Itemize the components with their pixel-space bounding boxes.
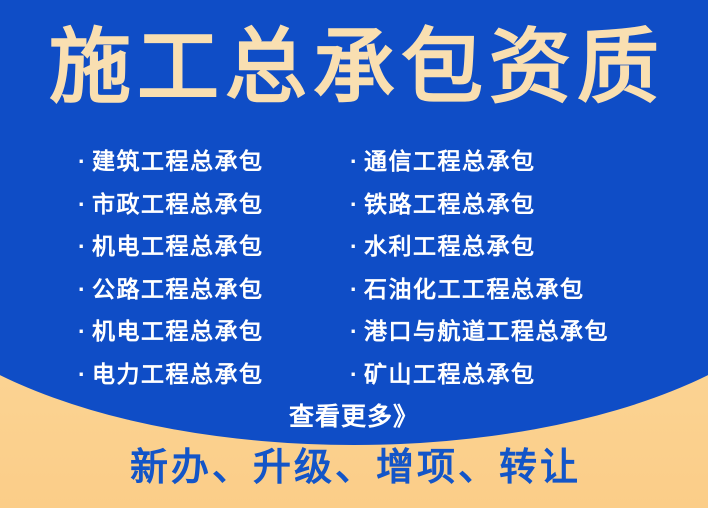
list-item[interactable]: · 机电工程总承包 [78, 310, 340, 353]
list-item-label: 矿山工程总承包 [364, 353, 536, 396]
services-slogan: 新办、升级、增项、转让 [0, 445, 708, 491]
qualification-column-left: · 建筑工程总承包 · 市政工程总承包 · 机电工程总承包 · 公路工程总承包 … [78, 140, 340, 395]
bullet-icon: · [78, 140, 92, 183]
list-item-label: 机电工程总承包 [92, 310, 264, 353]
bullet-icon: · [78, 353, 92, 396]
list-item-label: 机电工程总承包 [92, 225, 264, 268]
list-item[interactable]: · 公路工程总承包 [78, 268, 340, 311]
list-item[interactable]: · 市政工程总承包 [78, 183, 340, 226]
list-item-label: 水利工程总承包 [364, 225, 536, 268]
bullet-icon: · [350, 353, 364, 396]
bullet-icon: · [350, 183, 364, 226]
list-item[interactable]: · 水利工程总承包 [350, 225, 680, 268]
bullet-icon: · [78, 225, 92, 268]
bullet-icon: · [78, 310, 92, 353]
list-item-label: 建筑工程总承包 [92, 140, 264, 183]
list-item-label: 石油化工工程总承包 [364, 268, 585, 311]
list-item-label: 电力工程总承包 [92, 353, 264, 396]
list-item[interactable]: · 铁路工程总承包 [350, 183, 680, 226]
list-item-label: 铁路工程总承包 [364, 183, 536, 226]
bullet-icon: · [78, 183, 92, 226]
list-item[interactable]: · 建筑工程总承包 [78, 140, 340, 183]
bullet-icon: · [78, 268, 92, 311]
list-item-label: 公路工程总承包 [92, 268, 264, 311]
list-item[interactable]: · 机电工程总承包 [78, 225, 340, 268]
list-item-label: 港口与航道工程总承包 [364, 310, 609, 353]
view-more-link[interactable]: 查看更多》 [0, 401, 708, 433]
poster-canvas: 施工总承包资质 · 建筑工程总承包 · 市政工程总承包 · 机电工程总承包 · … [0, 0, 708, 508]
bullet-icon: · [350, 310, 364, 353]
qualification-column-right: · 通信工程总承包 · 铁路工程总承包 · 水利工程总承包 · 石油化工工程总承… [350, 140, 680, 395]
list-item[interactable]: · 港口与航道工程总承包 [350, 310, 680, 353]
list-item-label: 市政工程总承包 [92, 183, 264, 226]
bullet-icon: · [350, 225, 364, 268]
list-item[interactable]: · 电力工程总承包 [78, 353, 340, 396]
bullet-icon: · [350, 268, 364, 311]
page-title: 施工总承包资质 [0, 22, 708, 114]
list-item[interactable]: · 石油化工工程总承包 [350, 268, 680, 311]
list-item[interactable]: · 矿山工程总承包 [350, 353, 680, 396]
list-item[interactable]: · 通信工程总承包 [350, 140, 680, 183]
bullet-icon: · [350, 140, 364, 183]
poster-content: 施工总承包资质 · 建筑工程总承包 · 市政工程总承包 · 机电工程总承包 · … [0, 0, 708, 508]
qualification-lists: · 建筑工程总承包 · 市政工程总承包 · 机电工程总承包 · 公路工程总承包 … [0, 140, 708, 395]
list-item-label: 通信工程总承包 [364, 140, 536, 183]
